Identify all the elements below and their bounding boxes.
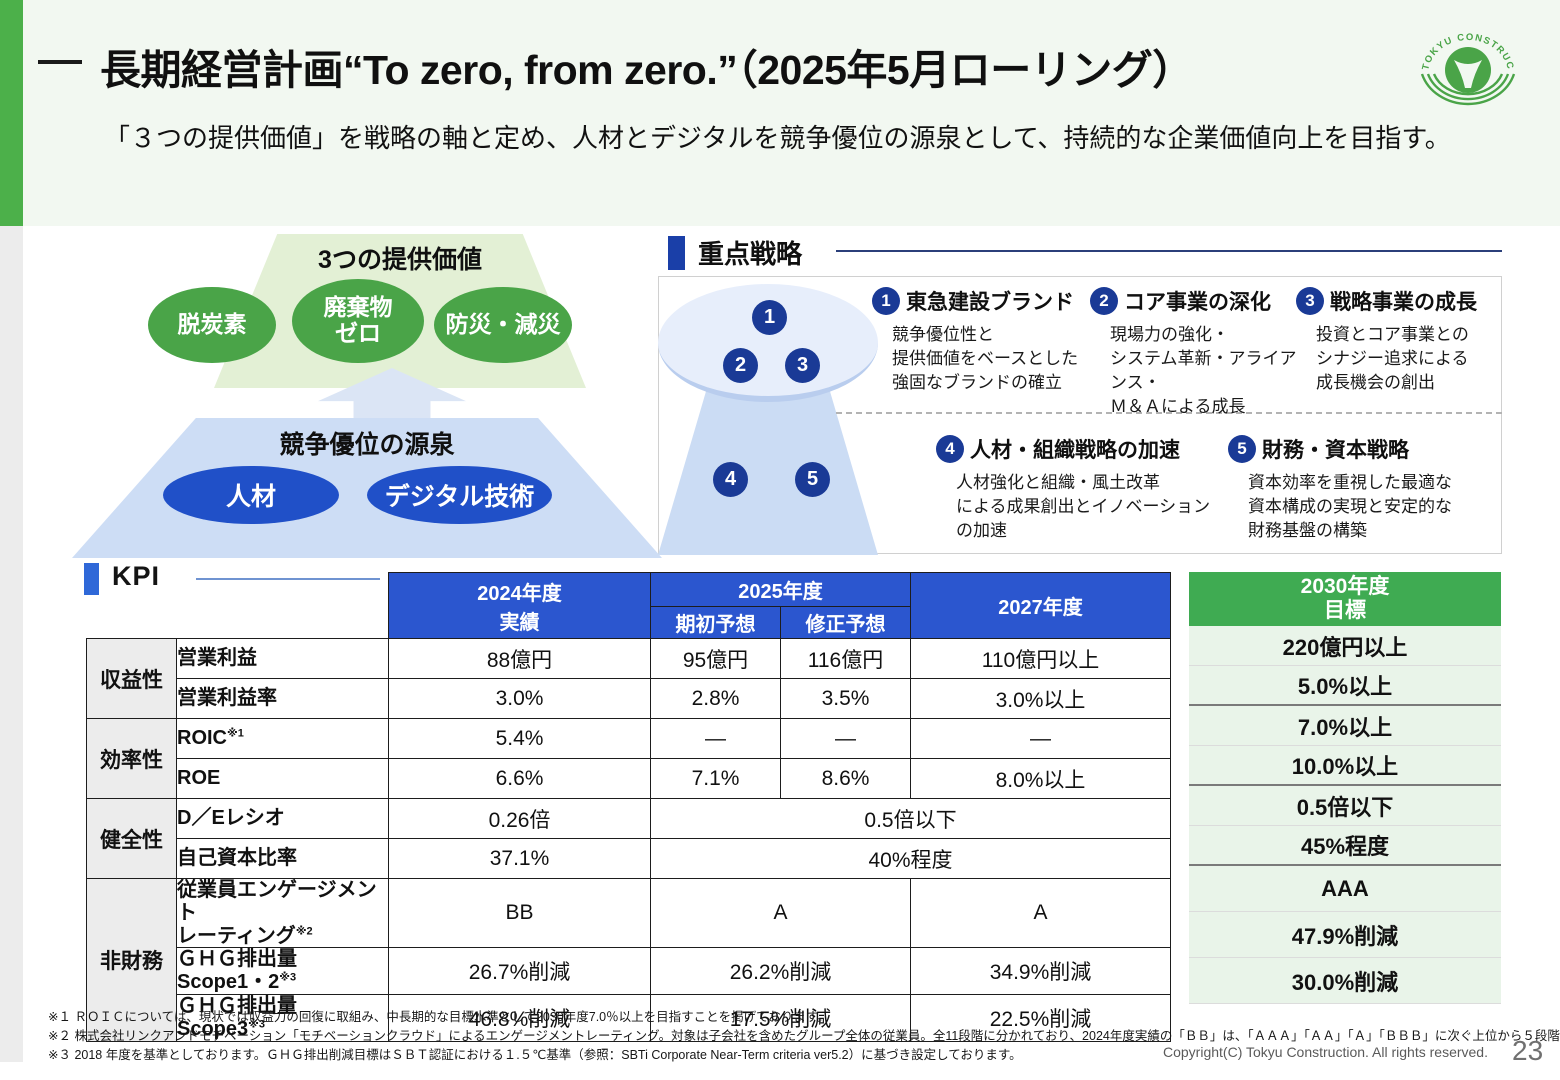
target-value: 45%程度 xyxy=(1189,826,1501,866)
table-row: 効率性 ROIC※1 5.4% — — — xyxy=(87,719,1171,759)
strategy-item-3-desc: 投資とコア事業とのシナジー追求による成長機会の創出 xyxy=(1316,323,1502,395)
target-2030-year: 2030年度 xyxy=(1301,575,1390,599)
strategy-badge-3: 3 xyxy=(1296,287,1324,315)
kpi-item-ghg-scope12: ＧＨＧ排出量Scope1・2※3 xyxy=(177,948,389,995)
target-value: 220億円以上 xyxy=(1189,626,1501,666)
strategy-badge-1: 1 xyxy=(872,287,900,315)
source-oval-digital-tech: デジタル技術 xyxy=(367,466,552,524)
kpi-category-efficiency: 効率性 xyxy=(87,719,177,799)
kpi-header-spacer-2 xyxy=(87,607,389,639)
kpi-value: 3.0%以上 xyxy=(911,679,1171,719)
kpi-value: 5.4% xyxy=(389,719,651,759)
kpi-value: BB xyxy=(389,879,651,948)
strategy-item-5[interactable]: 5 財務・資本戦略 資本効率を重視した最適な資本構成の実現と安定的な財務基盤の構… xyxy=(1228,434,1502,543)
kpi-value: 37.1% xyxy=(389,839,651,879)
kpi-value-merged: A xyxy=(651,879,911,948)
strategy-item-3-title: 戦略事業の成長 xyxy=(1330,286,1477,316)
target-value: 47.9%削減 xyxy=(1189,912,1501,958)
kpi-value-merged: 26.2%削減 xyxy=(651,948,911,995)
footnote-1: ※１ ＲＯＩＣについては、現状では収益力の回復に取組み、中長期的な目標水準として… xyxy=(48,1008,1518,1027)
value-oval-label: 廃棄物ゼロ xyxy=(324,295,393,347)
diagram-number-2: 2 xyxy=(723,348,758,383)
kpi-value: 8.6% xyxy=(781,759,911,799)
kpi-value-merged: 40%程度 xyxy=(651,839,1171,879)
kpi-header-spacer xyxy=(87,573,389,607)
kpi-value: A xyxy=(911,879,1171,948)
header-green-accent-bar xyxy=(0,0,23,226)
tokyu-construction-logo: TOKYU CONSTRUCTION xyxy=(1404,12,1532,114)
strategy-badge-2: 2 xyxy=(1090,287,1118,315)
kpi-value: — xyxy=(651,719,781,759)
kpi-value: 26.7%削減 xyxy=(389,948,651,995)
kpi-value: 3.0% xyxy=(389,679,651,719)
kpi-item-engagement-rating: 従業員エンゲージメントレーティング※2 xyxy=(177,879,389,948)
table-row: 収益性 営業利益 88億円 95億円 116億円 110億円以上 xyxy=(87,639,1171,679)
diagram-number-5: 5 xyxy=(795,462,830,497)
kpi-value: 116億円 xyxy=(781,639,911,679)
kpi-value: 3.5% xyxy=(781,679,911,719)
copyright-text: Copyright(C) Tokyu Construction. All rig… xyxy=(1163,1044,1488,1060)
strategy-item-2[interactable]: 2 コア事業の深化 現場力の強化・システム革新・アライアンス・Ｍ＆Ａによる成長 xyxy=(1090,286,1304,420)
strategy-item-4-head: 4 人材・組織戦略の加速 xyxy=(936,434,1212,464)
target-value: 7.0%以上 xyxy=(1189,706,1501,746)
table-row: ROE 6.6% 7.1% 8.6% 8.0%以上 xyxy=(87,759,1171,799)
kpi-table: 2024年度 実績 2025年度 2027年度 期初予想 修正予想 収益性 営業… xyxy=(86,572,1171,1042)
kpi-category-soundness: 健全性 xyxy=(87,799,177,879)
kpi-item-footnote-ref: ※1 xyxy=(227,727,244,739)
table-row: 自己資本比率 37.1% 40%程度 xyxy=(87,839,1171,879)
kpi-category-profitability: 収益性 xyxy=(87,639,177,719)
kpi-value: 34.9%削減 xyxy=(911,948,1171,995)
source-oval-label: 人材 xyxy=(226,477,276,513)
kpi-value: 88億円 xyxy=(389,639,651,679)
strategy-item-4[interactable]: 4 人材・組織戦略の加速 人材強化と組織・風土改革による成果創出とイノベーション… xyxy=(936,434,1212,543)
page-title: 長期経営計画“To zero, from zero.”（2025年5月ローリング… xyxy=(100,36,1193,96)
table-row: 健全性 D／Eレシオ 0.26倍 0.5倍以下 xyxy=(87,799,1171,839)
strategy-badge-5: 5 xyxy=(1228,435,1256,463)
kpi-value: 95億円 xyxy=(651,639,781,679)
kpi-header-2027: 2027年度 xyxy=(911,573,1171,639)
table-row: ＧＨＧ排出量Scope1・2※3 26.7%削減 26.2%削減 34.9%削減 xyxy=(87,948,1171,995)
kpi-value: 2.8% xyxy=(651,679,781,719)
diagram-number-1: 1 xyxy=(752,300,787,335)
target-2030-sub: 目標 xyxy=(1324,599,1366,623)
strategy-item-5-title: 財務・資本戦略 xyxy=(1262,434,1409,464)
kpi-header-2025: 2025年度 xyxy=(651,573,911,607)
target-2030-header: 2030年度 目標 xyxy=(1189,572,1501,626)
kpi-header-row-1: 2024年度 実績 2025年度 2027年度 xyxy=(87,573,1171,607)
value-oval-label: 脱炭素 xyxy=(178,312,247,338)
page-number: 23 xyxy=(1512,1035,1543,1067)
strategy-item-5-desc: 資本効率を重視した最適な資本構成の実現と安定的な財務基盤の構築 xyxy=(1248,471,1502,543)
strategy-item-2-title: コア事業の深化 xyxy=(1124,286,1271,316)
kpi-value: 8.0%以上 xyxy=(911,759,1171,799)
strategy-item-1[interactable]: 1 東急建設ブランド 競争優位性と提供価値をベースとした強固なブランドの確立 xyxy=(872,286,1088,395)
kpi-value: 7.1% xyxy=(651,759,781,799)
strategy-item-1-title: 東急建設ブランド xyxy=(906,286,1074,316)
value-oval-decarbonization: 脱炭素 xyxy=(148,287,276,363)
kpi-value: — xyxy=(911,719,1171,759)
strategy-item-4-title: 人材・組織戦略の加速 xyxy=(970,434,1180,464)
kpi-value: — xyxy=(781,719,911,759)
kpi-header-2024: 2024年度 実績 xyxy=(389,573,651,639)
value-oval-waste-zero: 廃棄物ゼロ xyxy=(292,279,424,363)
strategy-item-3-head: 3 戦略事業の成長 xyxy=(1296,286,1502,316)
strategy-section-title: 重点戦略 xyxy=(698,234,802,271)
target-value: AAA xyxy=(1189,866,1501,912)
kpi-item-equity-ratio: 自己資本比率 xyxy=(177,839,389,879)
diagram-number-4: 4 xyxy=(713,462,748,497)
kpi-item-footnote-ref: ※3 xyxy=(279,972,296,984)
kpi-header-2024-year: 2024年度 xyxy=(389,577,650,606)
source-oval-label: デジタル技術 xyxy=(385,477,535,513)
kpi-item-roic: ROIC※1 xyxy=(177,719,389,759)
page-subtitle: 「３つの提供価値」を戦略の軸と定め、人材とデジタルを競争優位の源泉として、持続的… xyxy=(104,118,1451,155)
target-value: 10.0%以上 xyxy=(1189,746,1501,786)
value-pyramid-base-label: 競争優位の源泉 xyxy=(72,425,662,461)
strategy-section-rule xyxy=(836,250,1502,252)
strategy-item-2-head: 2 コア事業の深化 xyxy=(1090,286,1304,316)
kpi-item-roe: ROE xyxy=(177,759,389,799)
kpi-header-2025-revised: 修正予想 xyxy=(781,607,911,639)
slide-root: 長期経営計画“To zero, from zero.”（2025年5月ローリング… xyxy=(0,0,1560,1080)
strategy-item-5-head: 5 財務・資本戦略 xyxy=(1228,434,1502,464)
kpi-value-merged: 0.5倍以下 xyxy=(651,799,1171,839)
kpi-item-operating-profit: 営業利益 xyxy=(177,639,389,679)
table-row: 非財務 従業員エンゲージメントレーティング※2 BB A A xyxy=(87,879,1171,948)
target-2030-column: 2030年度 目標 220億円以上 5.0%以上 7.0%以上 10.0%以上 … xyxy=(1189,572,1501,1004)
table-row: 営業利益率 3.0% 2.8% 3.5% 3.0%以上 xyxy=(87,679,1171,719)
strategy-item-1-head: 1 東急建設ブランド xyxy=(872,286,1088,316)
diagram-number-3: 3 xyxy=(785,348,820,383)
strategy-item-1-desc: 競争優位性と提供価値をベースとした強固なブランドの確立 xyxy=(892,323,1088,395)
kpi-item-de-ratio: D／Eレシオ xyxy=(177,799,389,839)
kpi-item-operating-margin: 営業利益率 xyxy=(177,679,389,719)
kpi-header-2024-sub: 実績 xyxy=(389,606,650,635)
strategy-item-2-desc: 現場力の強化・システム革新・アライアンス・Ｍ＆Ａによる成長 xyxy=(1110,323,1304,420)
left-edge-strip xyxy=(0,226,23,1062)
strategy-item-3[interactable]: 3 戦略事業の成長 投資とコア事業とのシナジー追求による成長機会の創出 xyxy=(1296,286,1502,395)
value-oval-label: 防災・減災 xyxy=(446,312,561,338)
target-value: 5.0%以上 xyxy=(1189,666,1501,706)
target-value: 0.5倍以下 xyxy=(1189,786,1501,826)
kpi-header-2025-initial: 期初予想 xyxy=(651,607,781,639)
kpi-item-label: ROIC xyxy=(177,727,227,749)
source-oval-human-resources: 人材 xyxy=(163,466,339,524)
kpi-item-footnote-ref: ※2 xyxy=(296,925,313,937)
kpi-value: 6.6% xyxy=(389,759,651,799)
strategy-item-4-desc: 人材強化と組織・風土改革による成果創出とイノベーションの加速 xyxy=(956,471,1212,543)
kpi-value: 0.26倍 xyxy=(389,799,651,839)
target-value: 30.0%削減 xyxy=(1189,958,1501,1004)
strategy-section-marker xyxy=(668,236,685,270)
value-oval-disaster-prevention: 防災・減災 xyxy=(434,287,572,363)
title-dash-icon xyxy=(38,60,82,64)
header-band xyxy=(0,0,1560,226)
kpi-value: 110億円以上 xyxy=(911,639,1171,679)
value-pyramid-top-label: 3つの提供価値 xyxy=(214,240,586,276)
strategy-badge-4: 4 xyxy=(936,435,964,463)
